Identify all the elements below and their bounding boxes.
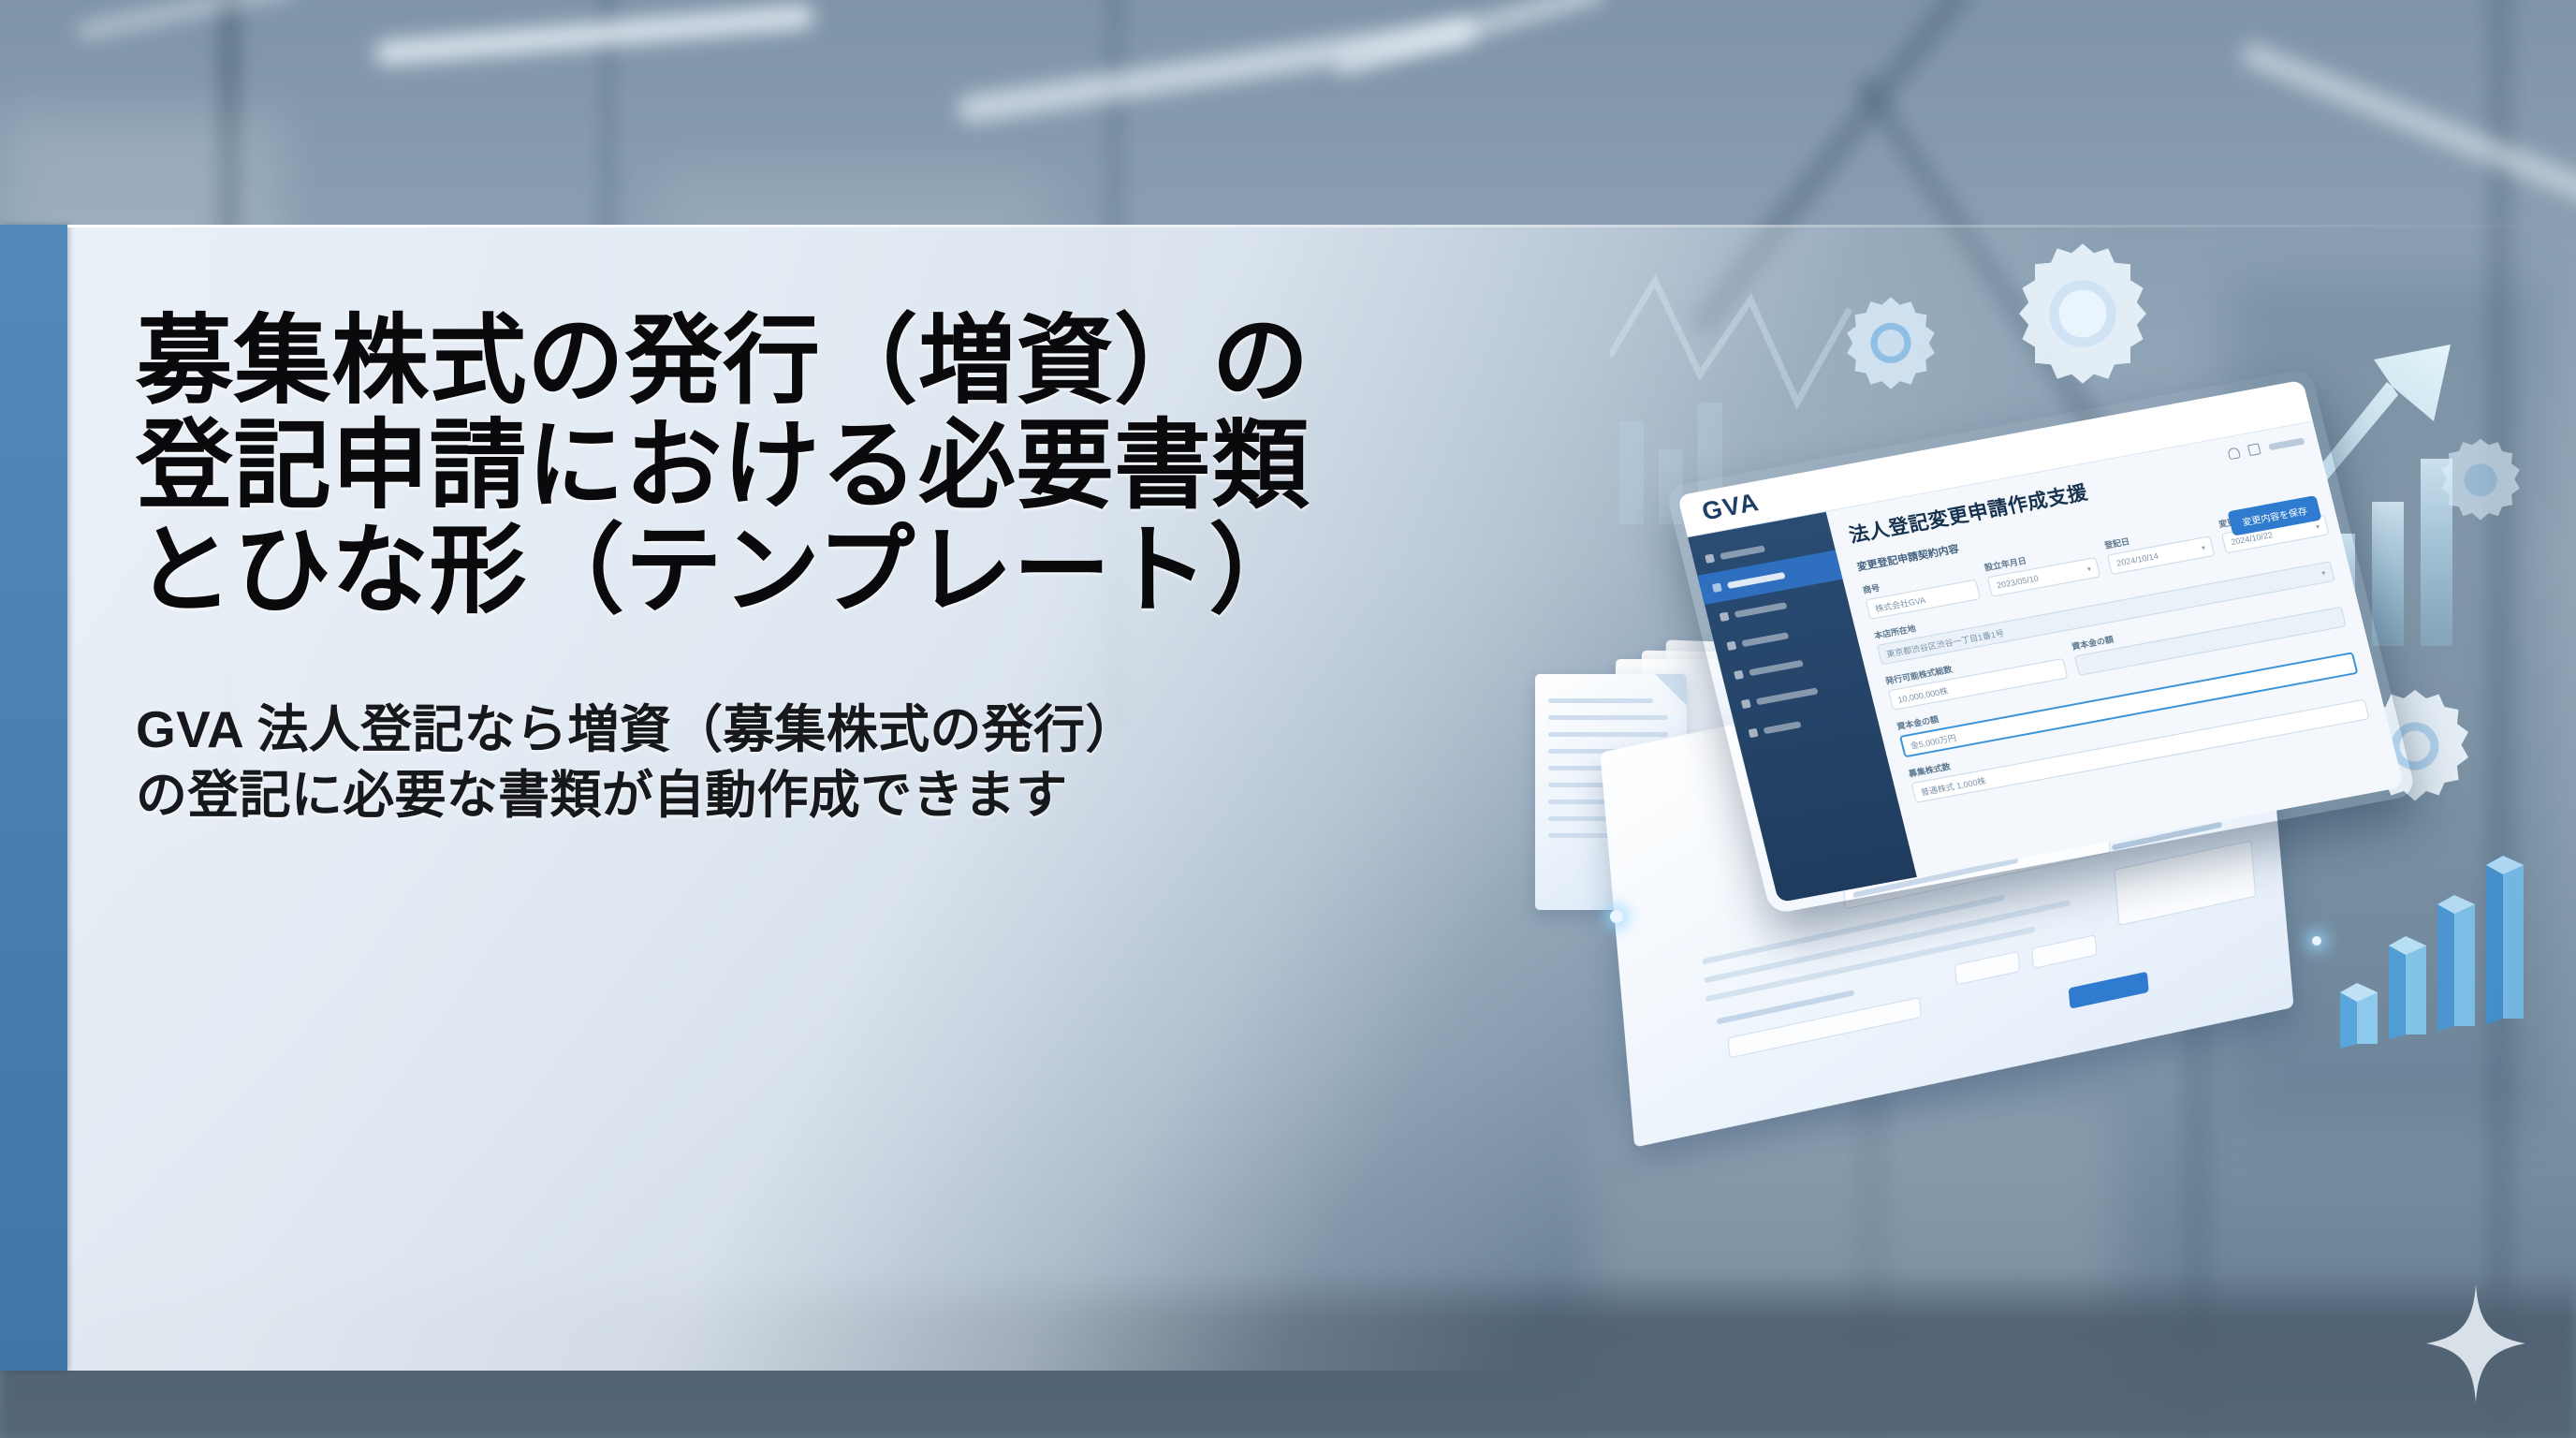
page-subtitle: GVA 法人登記なら増資（募集株式の発行） の登記に必要な書類が自動作成できます [136,697,1596,828]
sidebar-item-label [1763,721,1801,734]
title-line-3: とひな形（テンプレート） [136,519,1596,624]
folder-icon [1726,640,1736,650]
field-value: 株式会社GVA [1874,594,1927,615]
sidebar-item-label [1749,659,1804,675]
field-value: 10,000,000株 [1896,684,1949,705]
hero-illustration: GVA [1554,281,2576,1170]
building-icon[interactable] [2247,443,2261,456]
chevron-down-icon: ▾ [2320,568,2326,577]
field-trade-name: 商号 株式会社GVA [1862,564,1982,620]
field-incorporation-date: 設立年月日 2023/05/10 ▾ [1983,541,2101,596]
title-line-1: 募集株式の発行（増資）の [136,309,1596,414]
subtitle-line-2: の登記に必要な書類が自動作成できます [136,762,1596,828]
sidebar-item-label [1734,602,1787,618]
chevron-down-icon: ▾ [2086,565,2092,573]
hero-card-top-edge [67,225,2576,227]
field-value: 普通株式 1,000株 [1920,774,1987,798]
glow-accent [1610,910,1623,923]
field-value: 2023/05/10 [1996,574,2040,591]
glow-accent [2312,936,2321,946]
sidebar-item-label [1741,632,1789,647]
chevron-down-icon: ▾ [2315,521,2320,530]
sidebar-item-label [1720,545,1765,560]
sparkle-icon [2424,1283,2527,1409]
title-line-2: 登記申請における必要書類 [136,414,1596,519]
printout-submit-button [2069,972,2149,1009]
document-icon [1719,611,1729,621]
gear-icon [2003,234,2162,393]
bell-icon[interactable] [2227,447,2241,460]
user-icon [1741,698,1751,708]
sidebar-item-label [1756,687,1819,705]
field-value: 金5,000万円 [1909,731,1957,752]
subtitle-line-1: GVA 法人登記なら増資（募集株式の発行） [136,697,1596,762]
sidebar-item-label [1727,571,1786,588]
building-icon [1712,582,1722,592]
home-icon [1705,553,1715,563]
help-icon [1748,727,1758,737]
bar-chart-icon [2331,852,2546,1053]
field-value: 2024/10/14 [2115,551,2159,568]
left-accent-bar [0,225,67,1371]
hero-text-block: 募集株式の発行（増資）の 登記申請における必要書類 とひな形（テンプレート） G… [136,309,1596,828]
gva-logo: GVA [1699,488,1763,526]
field-registration-date: 登記日 2024/10/14 ▾ [2103,521,2216,575]
clock-icon [1734,669,1744,679]
chevron-down-icon: ▾ [2201,543,2206,551]
page-title: 募集株式の発行（増資）の 登記申請における必要書類 とひな形（テンプレート） [136,309,1596,624]
